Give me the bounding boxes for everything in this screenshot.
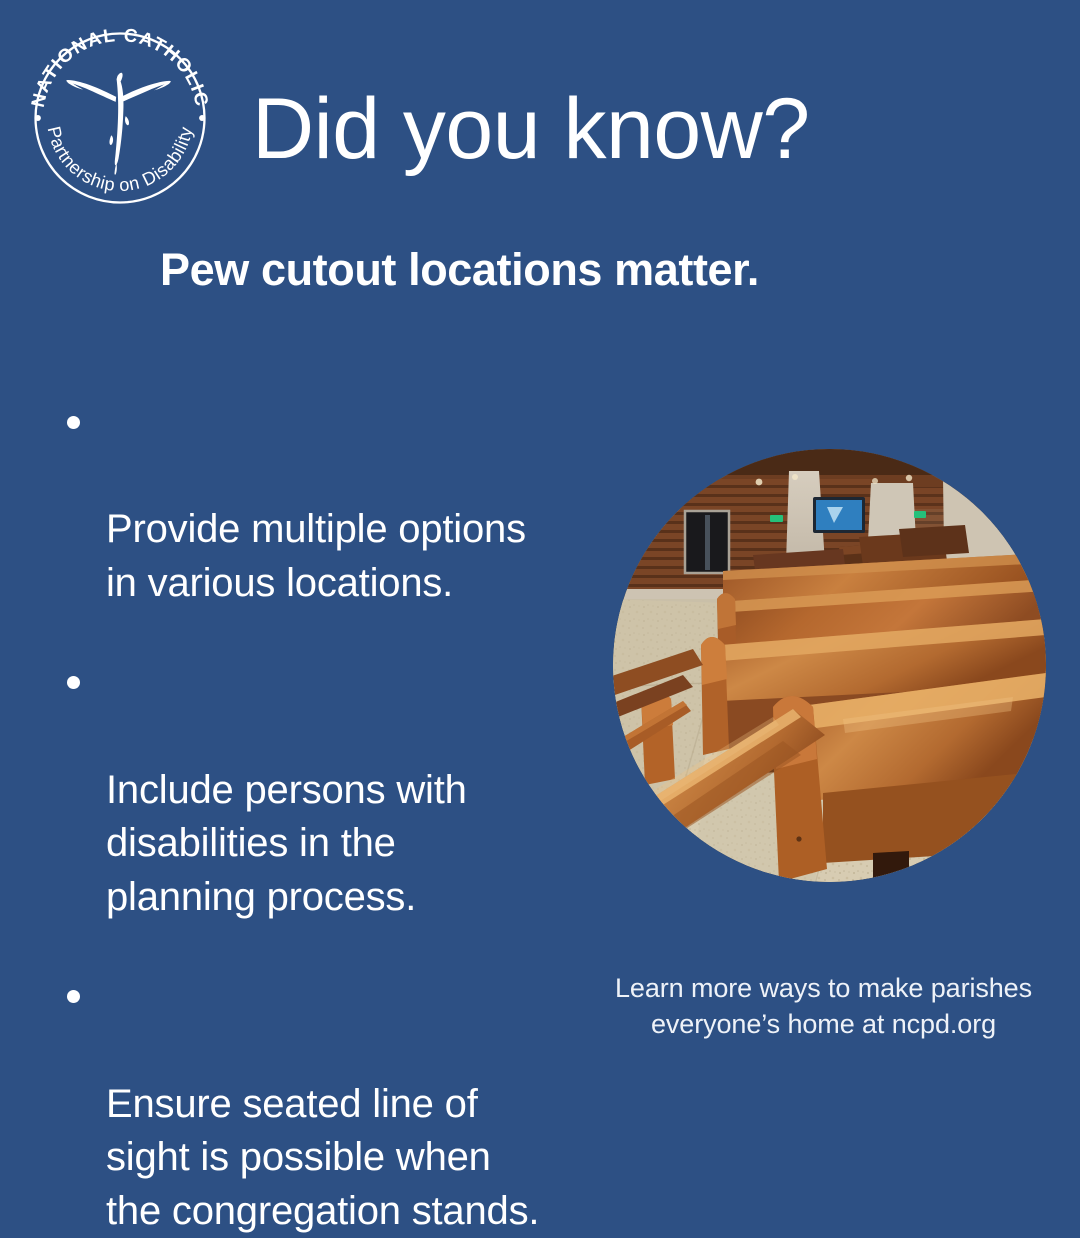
tips-list: Provide multiple options in various loca… xyxy=(60,396,630,1238)
bullet-dot-icon xyxy=(67,416,80,429)
church-pews-photo xyxy=(613,449,1046,882)
list-item-text: Provide multiple options in various loca… xyxy=(106,507,526,605)
ncpd-seal-icon: NATIONAL CATHOLIC Partnership on Disabil… xyxy=(24,22,216,214)
list-item: Ensure seated line of sight is possible … xyxy=(60,970,630,1238)
list-item: Provide multiple options in various loca… xyxy=(60,396,630,610)
footer-cta-text: Learn more ways to make parishes everyon… xyxy=(615,970,1032,1042)
bullet-dot-icon xyxy=(67,676,80,689)
church-pews-illustration xyxy=(613,449,1046,882)
subheading: Pew cutout locations matter. xyxy=(160,244,759,296)
list-item-text: Include persons with disabilities in the… xyxy=(106,768,467,919)
ncpd-logo[interactable]: NATIONAL CATHOLIC Partnership on Disabil… xyxy=(24,22,216,214)
list-item-text: Ensure seated line of sight is possible … xyxy=(106,1082,539,1233)
page-title: Did you know? xyxy=(252,84,810,174)
list-item: Include persons with disabilities in the… xyxy=(60,656,630,924)
bullet-dot-icon xyxy=(67,990,80,1003)
